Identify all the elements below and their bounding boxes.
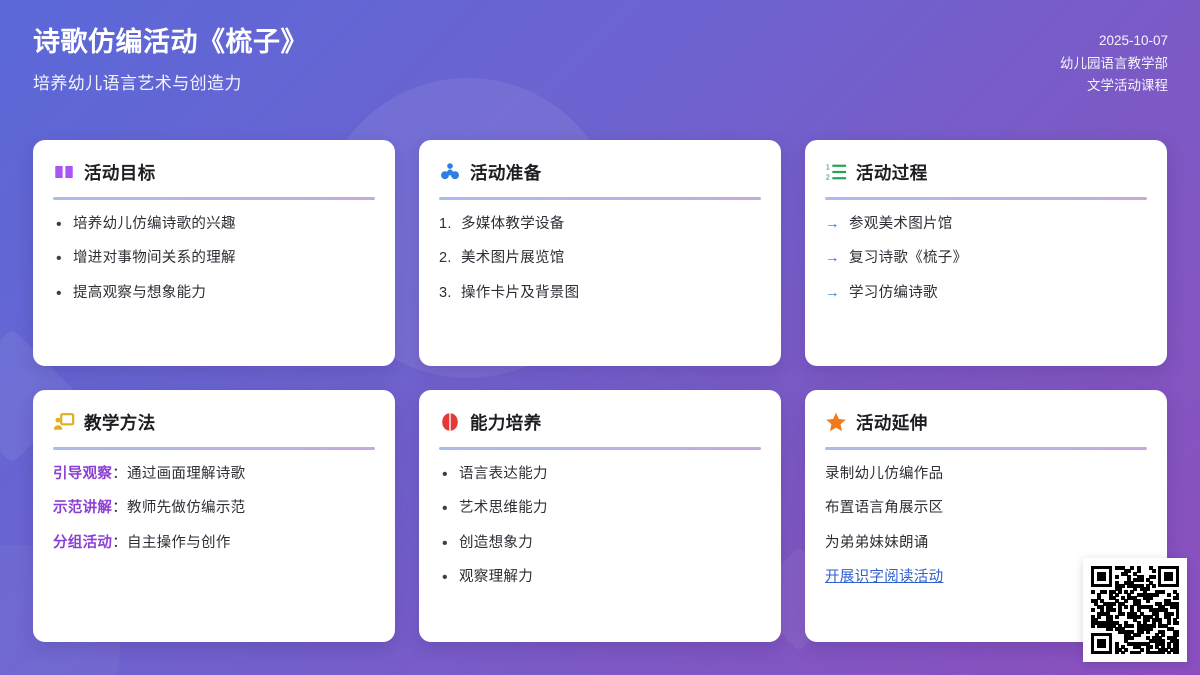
card-title: 活动准备 [470,160,542,185]
card-header: 活动准备 [439,158,761,186]
svg-text:1: 1 [825,162,830,171]
card-methods: 教学方法引导观察：通过画面理解诗歌示范讲解：教师先做仿编示范分组活动：自主操作与… [33,390,395,642]
card-objectives: 活动目标培养幼儿仿编诗歌的兴趣增进对事物间关系的理解提高观察与想象能力 [33,140,395,366]
list-item: 艺术思维能力 [439,497,761,519]
card-header: 教学方法 [53,408,375,436]
card-title: 教学方法 [84,410,156,435]
card-divider [53,197,375,200]
list-item: 美术图片展览馆 [439,247,761,269]
card-header: 12活动过程 [825,158,1147,186]
header-date: 2025-10-07 [1060,30,1168,53]
page-header: 诗歌仿编活动《梳子》 培养幼儿语言艺术与创造力 2025-10-07 幼儿园语言… [0,0,1200,128]
card-preparation: 活动准备多媒体教学设备美术图片展览馆操作卡片及背景图 [419,140,781,366]
card-header: 活动延伸 [825,408,1147,436]
list-item: 录制幼儿仿编作品 [825,463,1147,485]
method-term: 分组活动 [53,535,112,551]
list-item: 学习仿编诗歌 [825,282,1147,304]
card-divider [439,447,761,450]
list-item: 为弟弟妹妹朗诵 [825,532,1147,554]
presenter-screen-icon [53,411,75,433]
header-left: 诗歌仿编活动《梳子》 培养幼儿语言艺术与创造力 [33,26,308,94]
method-term: 引导观察 [53,466,112,482]
list-item: 布置语言角展示区 [825,497,1147,519]
list-item: 增进对事物间关系的理解 [53,247,375,269]
card-title: 能力培养 [470,410,542,435]
card-list: 培养幼儿仿编诗歌的兴趣增进对事物间关系的理解提高观察与想象能力 [53,213,375,304]
card-list: 引导观察：通过画面理解诗歌示范讲解：教师先做仿编示范分组活动：自主操作与创作 [53,463,375,554]
card-title: 活动延伸 [856,410,928,435]
card-divider [825,447,1147,450]
svg-text:2: 2 [825,172,830,181]
card-list: 语言表达能力艺术思维能力创造想象力观察理解力 [439,463,761,589]
header-department: 幼儿园语言教学部 [1060,53,1168,76]
header-course: 文学活动课程 [1060,75,1168,98]
separator: ： [112,466,127,482]
card-divider [53,447,375,450]
page-title: 诗歌仿编活动《梳子》 [33,26,308,60]
list-item: 示范讲解：教师先做仿编示范 [53,497,375,519]
qr-code[interactable] [1083,558,1187,662]
list-item: 多媒体教学设备 [439,213,761,235]
card-process: 12活动过程参观美术图片馆复习诗歌《梳子》学习仿编诗歌 [805,140,1167,366]
card-divider [825,197,1147,200]
header-meta: 2025-10-07 幼儿园语言教学部 文学活动课程 [1060,30,1168,98]
list-item: 分组活动：自主操作与创作 [53,532,375,554]
separator: ： [112,500,127,516]
card-title: 活动过程 [856,160,928,185]
list-item: 观察理解力 [439,566,761,588]
molecule-cluster-icon [439,161,461,183]
star-icon [825,411,847,433]
list-item: 引导观察：通过画面理解诗歌 [53,463,375,485]
list-item: 语言表达能力 [439,463,761,485]
method-term: 示范讲解 [53,500,112,516]
list-item: 操作卡片及背景图 [439,282,761,304]
method-text: 自主操作与创作 [127,535,231,551]
card-grid: 活动目标培养幼儿仿编诗歌的兴趣增进对事物间关系的理解提高观察与想象能力活动准备多… [33,140,1167,642]
separator: ： [112,535,127,551]
card-list: 参观美术图片馆复习诗歌《梳子》学习仿编诗歌 [825,213,1147,304]
method-text: 通过画面理解诗歌 [127,466,245,482]
method-text: 教师先做仿编示范 [127,500,245,516]
list-item: 创造想象力 [439,532,761,554]
card-header: 活动目标 [53,158,375,186]
page-subtitle: 培养幼儿语言艺术与创造力 [33,69,308,94]
card-title: 活动目标 [84,160,156,185]
list-item: 培养幼儿仿编诗歌的兴趣 [53,213,375,235]
brain-icon [439,411,461,433]
extension-link[interactable]: 开展识字阅读活动 [825,569,943,585]
open-book-icon [53,161,75,183]
card-abilities: 能力培养语言表达能力艺术思维能力创造想象力观察理解力 [419,390,781,642]
numbered-list-icon: 12 [825,161,847,183]
card-divider [439,197,761,200]
card-header: 能力培养 [439,408,761,436]
list-item: 复习诗歌《梳子》 [825,247,1147,269]
card-list: 多媒体教学设备美术图片展览馆操作卡片及背景图 [439,213,761,304]
list-item: 提高观察与想象能力 [53,282,375,304]
list-item: 参观美术图片馆 [825,213,1147,235]
